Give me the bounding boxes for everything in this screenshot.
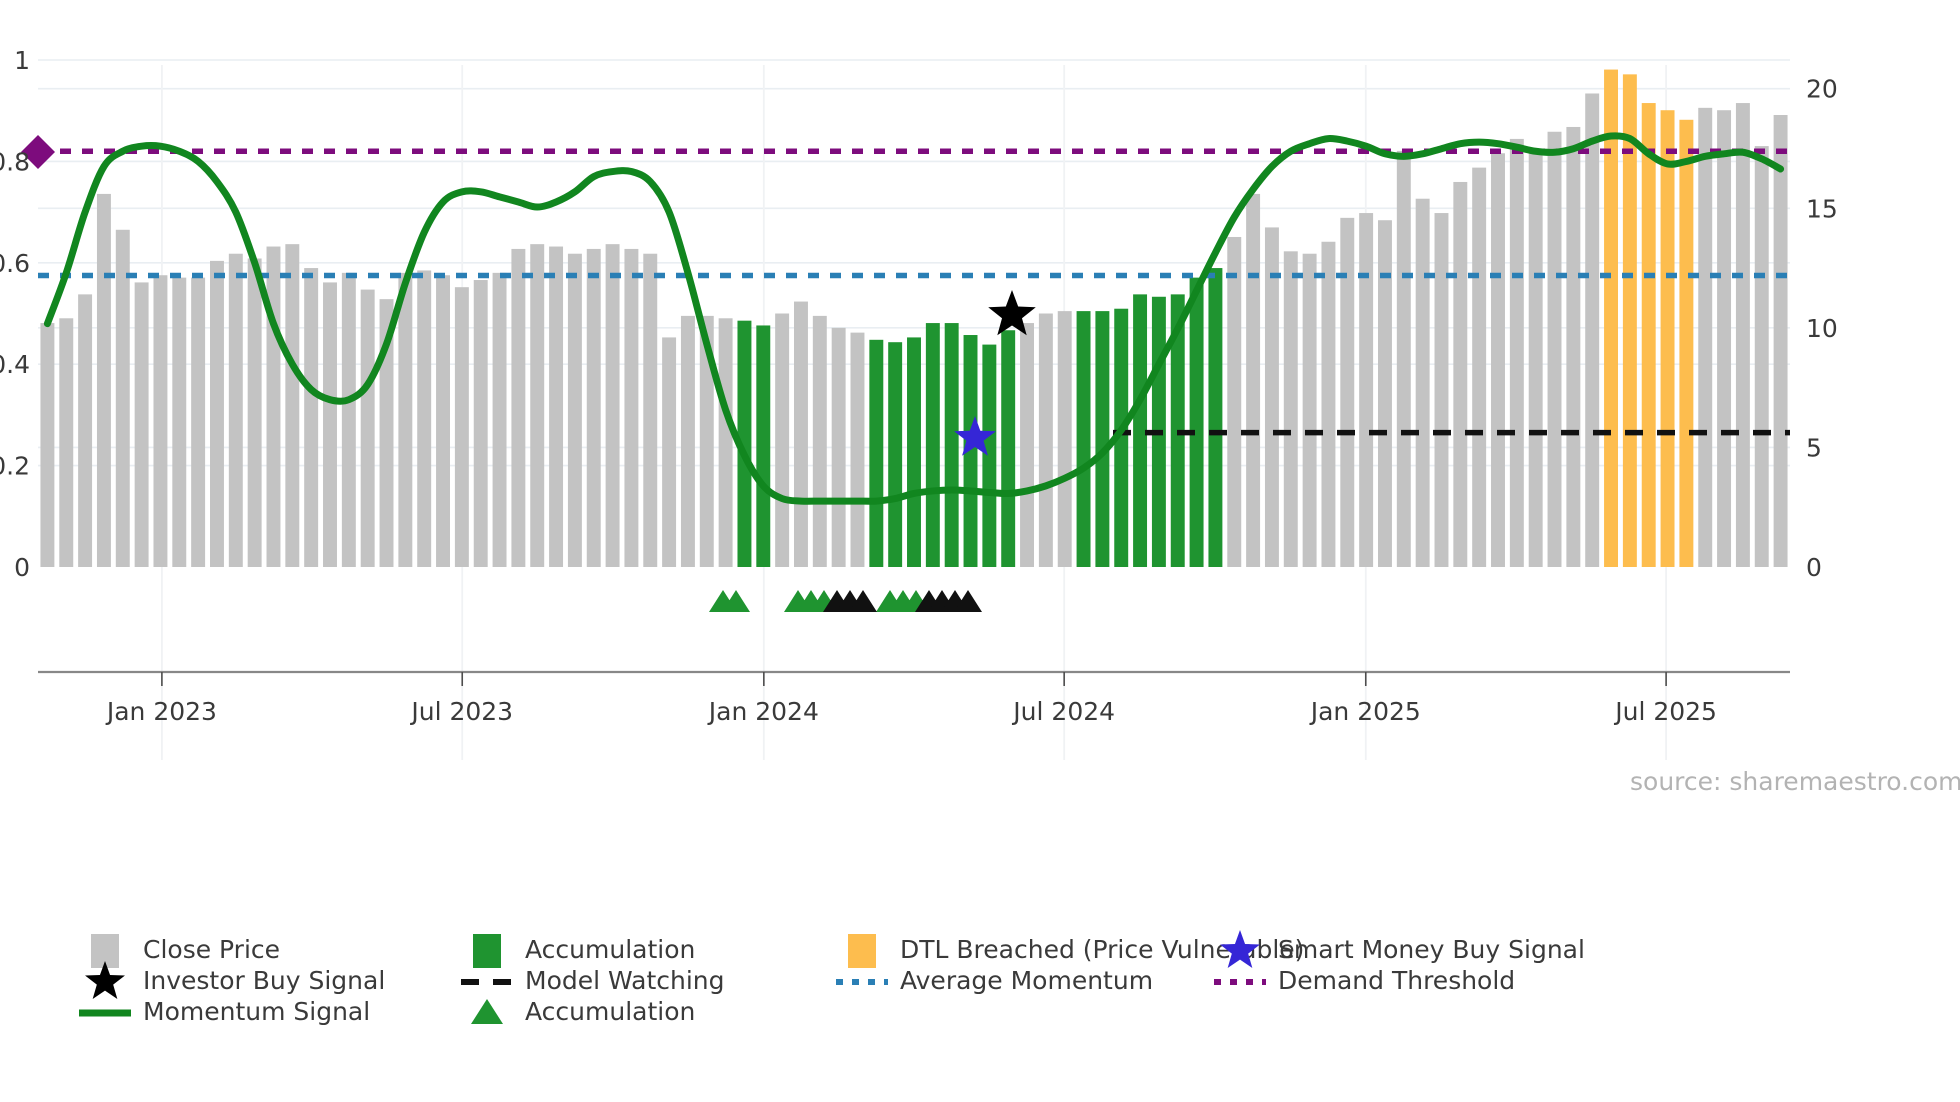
left-axis-tick-label: 0.4	[0, 350, 30, 379]
price-bar	[1359, 213, 1373, 567]
axes	[38, 672, 1790, 686]
price-bar	[1717, 110, 1731, 567]
price-bar	[40, 323, 54, 567]
left-axis-tick-label: 1	[14, 46, 30, 75]
price-bar	[285, 244, 299, 567]
left-axis-tick-label: 0	[14, 553, 30, 582]
legend-item[interactable]: Model Watching	[461, 966, 725, 995]
price-bar	[1642, 103, 1656, 567]
price-bar	[1001, 330, 1015, 567]
price-bar	[907, 337, 921, 567]
price-bar	[945, 323, 959, 567]
x-axis-tick-label: Jul 2023	[409, 697, 513, 726]
price-bar	[1661, 110, 1675, 567]
x-axis-tick-label: Jan 2023	[105, 697, 217, 726]
price-bar	[1284, 251, 1298, 567]
price-bar	[97, 194, 111, 567]
price-bar	[1208, 268, 1222, 567]
price-bar	[1472, 168, 1486, 567]
x-axis-tick-label: Jul 2024	[1011, 697, 1115, 726]
price-bar	[549, 247, 563, 567]
price-bar	[267, 247, 281, 567]
price-bar	[1378, 220, 1392, 567]
legend-label: Smart Money Buy Signal	[1278, 935, 1585, 964]
accumulation-triangle-markers	[709, 590, 982, 612]
price-bar	[1133, 294, 1147, 567]
price-bar	[530, 244, 544, 567]
price-bar	[474, 280, 488, 567]
price-bar	[1227, 237, 1241, 567]
price-bar	[1435, 213, 1449, 567]
legend-label: Close Price	[143, 935, 280, 964]
price-bar	[681, 316, 695, 567]
x-axis-tick-label: Jan 2024	[707, 697, 819, 726]
legend-item[interactable]: Momentum Signal	[79, 997, 370, 1026]
price-bar	[361, 290, 375, 567]
price-bar	[1623, 74, 1637, 567]
price-bar	[1585, 93, 1599, 567]
price-bar	[888, 342, 902, 567]
price-bar	[1453, 182, 1467, 567]
right-axis-tick-label: 5	[1806, 433, 1822, 462]
price-bar	[323, 282, 337, 567]
price-bar	[436, 275, 450, 567]
price-bar	[982, 345, 996, 567]
x-axis-tick-label: Jul 2025	[1613, 697, 1717, 726]
x-axis-tick-label: Jan 2025	[1309, 697, 1421, 726]
price-bar	[398, 273, 412, 567]
price-bar	[756, 325, 770, 567]
price-bar	[851, 333, 865, 567]
price-bar	[587, 249, 601, 567]
price-bar	[229, 254, 243, 567]
chart-container: 00.20.40.60.81 05101520 Jan 2023Jul 2023…	[0, 0, 1960, 1102]
price-bar	[210, 261, 224, 567]
price-bar	[1246, 194, 1260, 567]
legend-item[interactable]: Investor Buy Signal	[85, 961, 385, 999]
price-bar	[172, 278, 186, 567]
square-orange-icon	[848, 934, 876, 968]
price-bar	[1604, 70, 1618, 567]
price-bar	[1566, 127, 1580, 567]
left-axis-tick-label: 0.6	[0, 249, 30, 278]
price-bar	[794, 302, 808, 567]
price-bar	[1058, 311, 1072, 567]
right-axis-tick-label: 0	[1806, 553, 1822, 582]
legend-item[interactable]: Average Momentum	[836, 966, 1153, 995]
price-bar	[926, 323, 940, 567]
price-bar	[1190, 278, 1204, 567]
legend-label: Average Momentum	[900, 966, 1153, 995]
price-bar	[1039, 314, 1053, 568]
price-bar	[455, 287, 469, 567]
price-bar	[1303, 254, 1317, 567]
price-bar	[116, 230, 130, 567]
price-bar	[832, 328, 846, 567]
price-bar	[869, 340, 883, 567]
triangle-green-icon	[471, 999, 503, 1024]
price-bar	[1265, 227, 1279, 567]
price-bar	[304, 268, 318, 567]
price-bar	[568, 254, 582, 567]
legend-label: Demand Threshold	[1278, 966, 1515, 995]
right-axis-tick-label: 20	[1806, 75, 1838, 104]
price-bar	[1736, 103, 1750, 567]
price-bar	[342, 273, 356, 567]
price-bar	[1529, 148, 1543, 567]
price-bar	[59, 318, 73, 567]
price-bar	[1548, 132, 1562, 567]
price-bar	[1491, 153, 1505, 567]
price-bar	[511, 249, 525, 567]
price-bar	[775, 314, 789, 568]
legend-label: Accumulation	[525, 997, 695, 1026]
price-bar	[78, 294, 92, 567]
price-bar	[417, 270, 431, 567]
price-bar	[1416, 199, 1430, 567]
price-bar	[248, 258, 262, 567]
price-bar	[643, 254, 657, 567]
price-bar	[606, 244, 620, 567]
price-bar	[1510, 139, 1524, 567]
price-bar	[624, 249, 638, 567]
right-axis-tick-label: 10	[1806, 314, 1838, 343]
right-axis-labels: 05101520	[1806, 75, 1838, 582]
price-bar	[1774, 115, 1788, 567]
price-bar	[813, 316, 827, 567]
legend-item[interactable]: Close Price	[91, 934, 280, 968]
square-green-icon	[473, 934, 501, 968]
legend-label: Momentum Signal	[143, 997, 370, 1026]
price-bar	[1698, 108, 1712, 567]
left-axis-labels: 00.20.40.60.81	[0, 46, 30, 582]
price-bar	[191, 278, 205, 567]
price-bar	[1095, 311, 1109, 567]
chart-legend: Close PriceAccumulationDTL Breached (Pri…	[79, 930, 1585, 1026]
legend-item[interactable]: Accumulation	[471, 997, 695, 1026]
left-axis-tick-label: 0.8	[0, 147, 30, 176]
price-bar	[153, 275, 167, 567]
price-bar	[1755, 146, 1769, 567]
price-bar	[1679, 120, 1693, 567]
legend-item[interactable]: Demand Threshold	[1214, 966, 1515, 995]
price-bar	[1020, 323, 1034, 567]
legend-label: Investor Buy Signal	[143, 966, 385, 995]
price-bar	[135, 282, 149, 567]
price-bar	[493, 273, 507, 567]
financial-chart: 00.20.40.60.81 05101520 Jan 2023Jul 2023…	[0, 0, 1960, 1102]
legend-label: Accumulation	[525, 935, 695, 964]
left-axis-tick-label: 0.2	[0, 452, 30, 481]
legend-label: Model Watching	[525, 966, 725, 995]
price-bar	[719, 318, 733, 567]
price-bar	[1340, 218, 1354, 567]
x-axis-labels: Jan 2023Jul 2023Jan 2024Jul 2024Jan 2025…	[105, 697, 1717, 726]
legend-item[interactable]: Accumulation	[473, 934, 695, 968]
price-bar	[1321, 242, 1335, 567]
right-axis-tick-label: 15	[1806, 194, 1838, 223]
price-bar	[1077, 311, 1091, 567]
source-watermark: source: sharemaestro.com	[1630, 767, 1960, 796]
price-bar	[662, 337, 676, 567]
price-bar	[1397, 151, 1411, 567]
